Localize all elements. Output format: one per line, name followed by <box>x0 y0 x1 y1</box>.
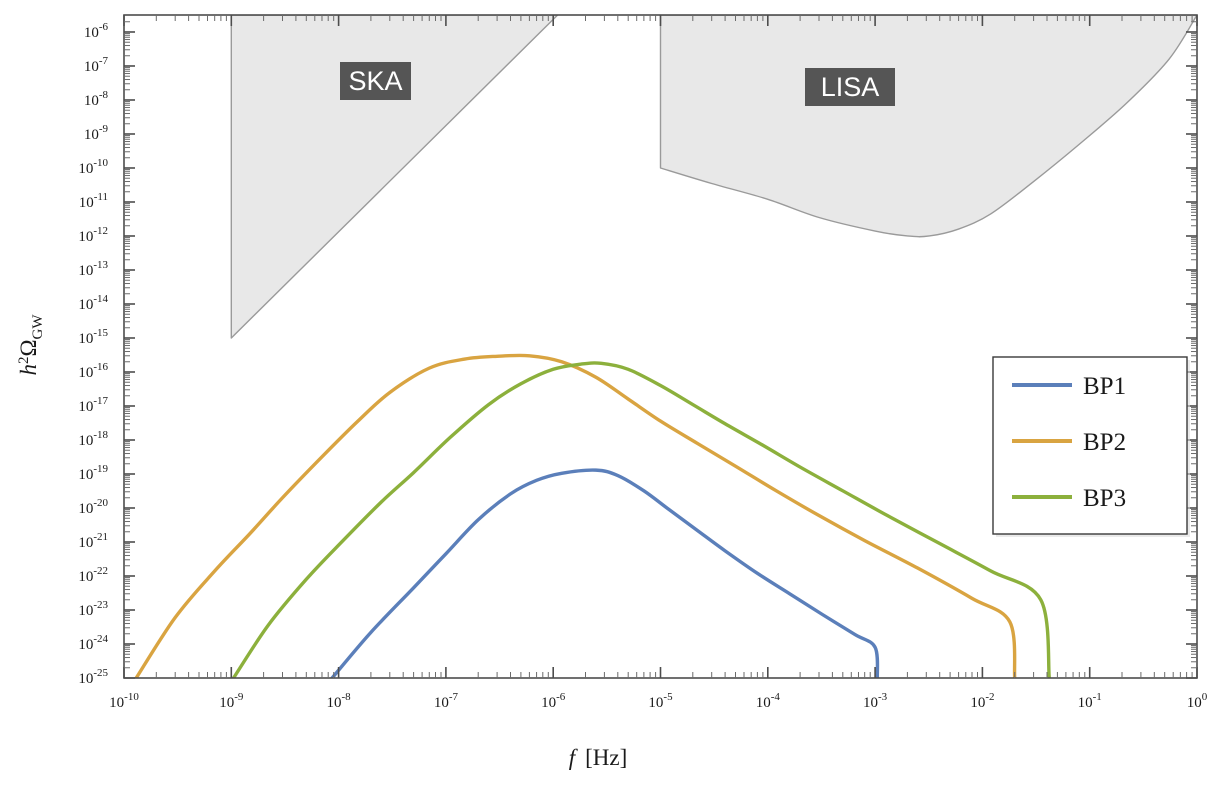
legend-box: BP1BP2BP3 <box>993 357 1190 537</box>
legend-label-bp1: BP1 <box>1083 373 1126 400</box>
y-axis-title-h: h <box>16 364 41 376</box>
gravitational-wave-spectrum-figure: 10-1010-910-810-710-610-510-410-310-210-… <box>0 0 1215 786</box>
region-label-text-ska: SKA <box>348 66 402 96</box>
legend-label-bp3: BP3 <box>1083 485 1126 512</box>
region-label-text-lisa: LISA <box>821 72 880 102</box>
x-axis-title-unit: [Hz] <box>585 745 627 770</box>
legend-label-bp2: BP2 <box>1083 429 1126 456</box>
y-axis-title-exp: 2 <box>16 357 32 365</box>
chart-canvas: 10-1010-910-810-710-610-510-410-310-210-… <box>0 0 1215 786</box>
region-label-ska: SKA <box>340 62 411 100</box>
region-label-lisa: LISA <box>805 68 895 106</box>
y-axis-title-sub: GW <box>30 314 46 340</box>
y-axis-title-omega: Ω <box>16 339 41 356</box>
